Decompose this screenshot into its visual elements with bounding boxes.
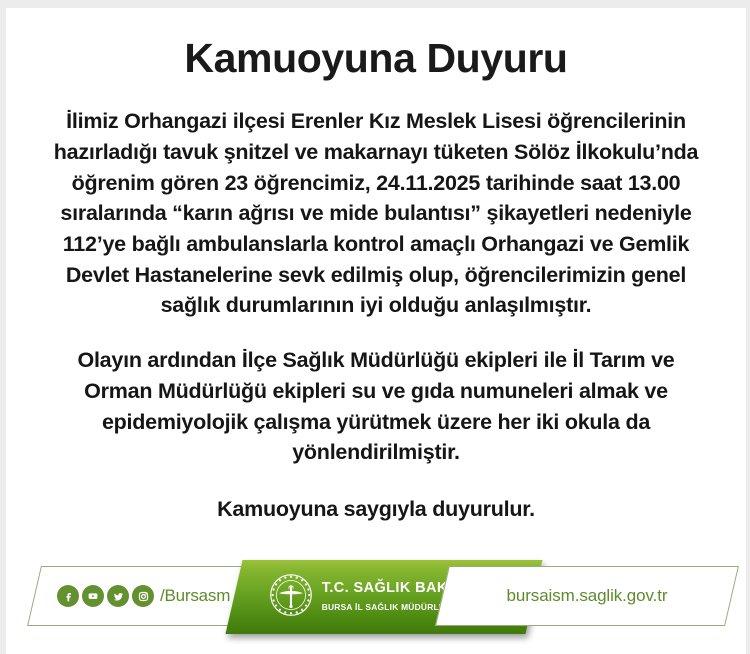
footer-bar: /Bursasm [6, 560, 746, 634]
website-url-label[interactable]: bursaism.saglik.gov.tr [507, 586, 668, 606]
website-panel[interactable]: bursaism.saglik.gov.tr [435, 566, 739, 626]
ministry-of-health-emblem [269, 573, 313, 622]
announcement-body: İlimiz Orhangazi ilçesi Erenler Kız Mesl… [6, 106, 746, 525]
page-title: Kamuoyuna Duyuru [6, 37, 746, 80]
facebook-icon[interactable] [57, 585, 79, 607]
social-handle-label: /Bursasm [160, 586, 230, 606]
announcement-paragraph-1: İlimiz Orhangazi ilçesi Erenler Kız Mesl… [50, 106, 702, 321]
twitter-icon[interactable] [107, 585, 129, 607]
social-icon-group: /Bursasm [57, 585, 230, 607]
announcement-paragraph-2: Olayın ardından İlçe Sağlık Müdürlüğü ek… [50, 345, 702, 468]
announcement-closing-line: Kamuoyuna saygıyla duyurulur. [50, 494, 702, 525]
announcement-poster: Kamuoyuna Duyuru İlimiz Orhangazi ilçesi… [0, 0, 750, 654]
instagram-icon[interactable] [132, 585, 154, 607]
youtube-icon[interactable] [82, 585, 104, 607]
